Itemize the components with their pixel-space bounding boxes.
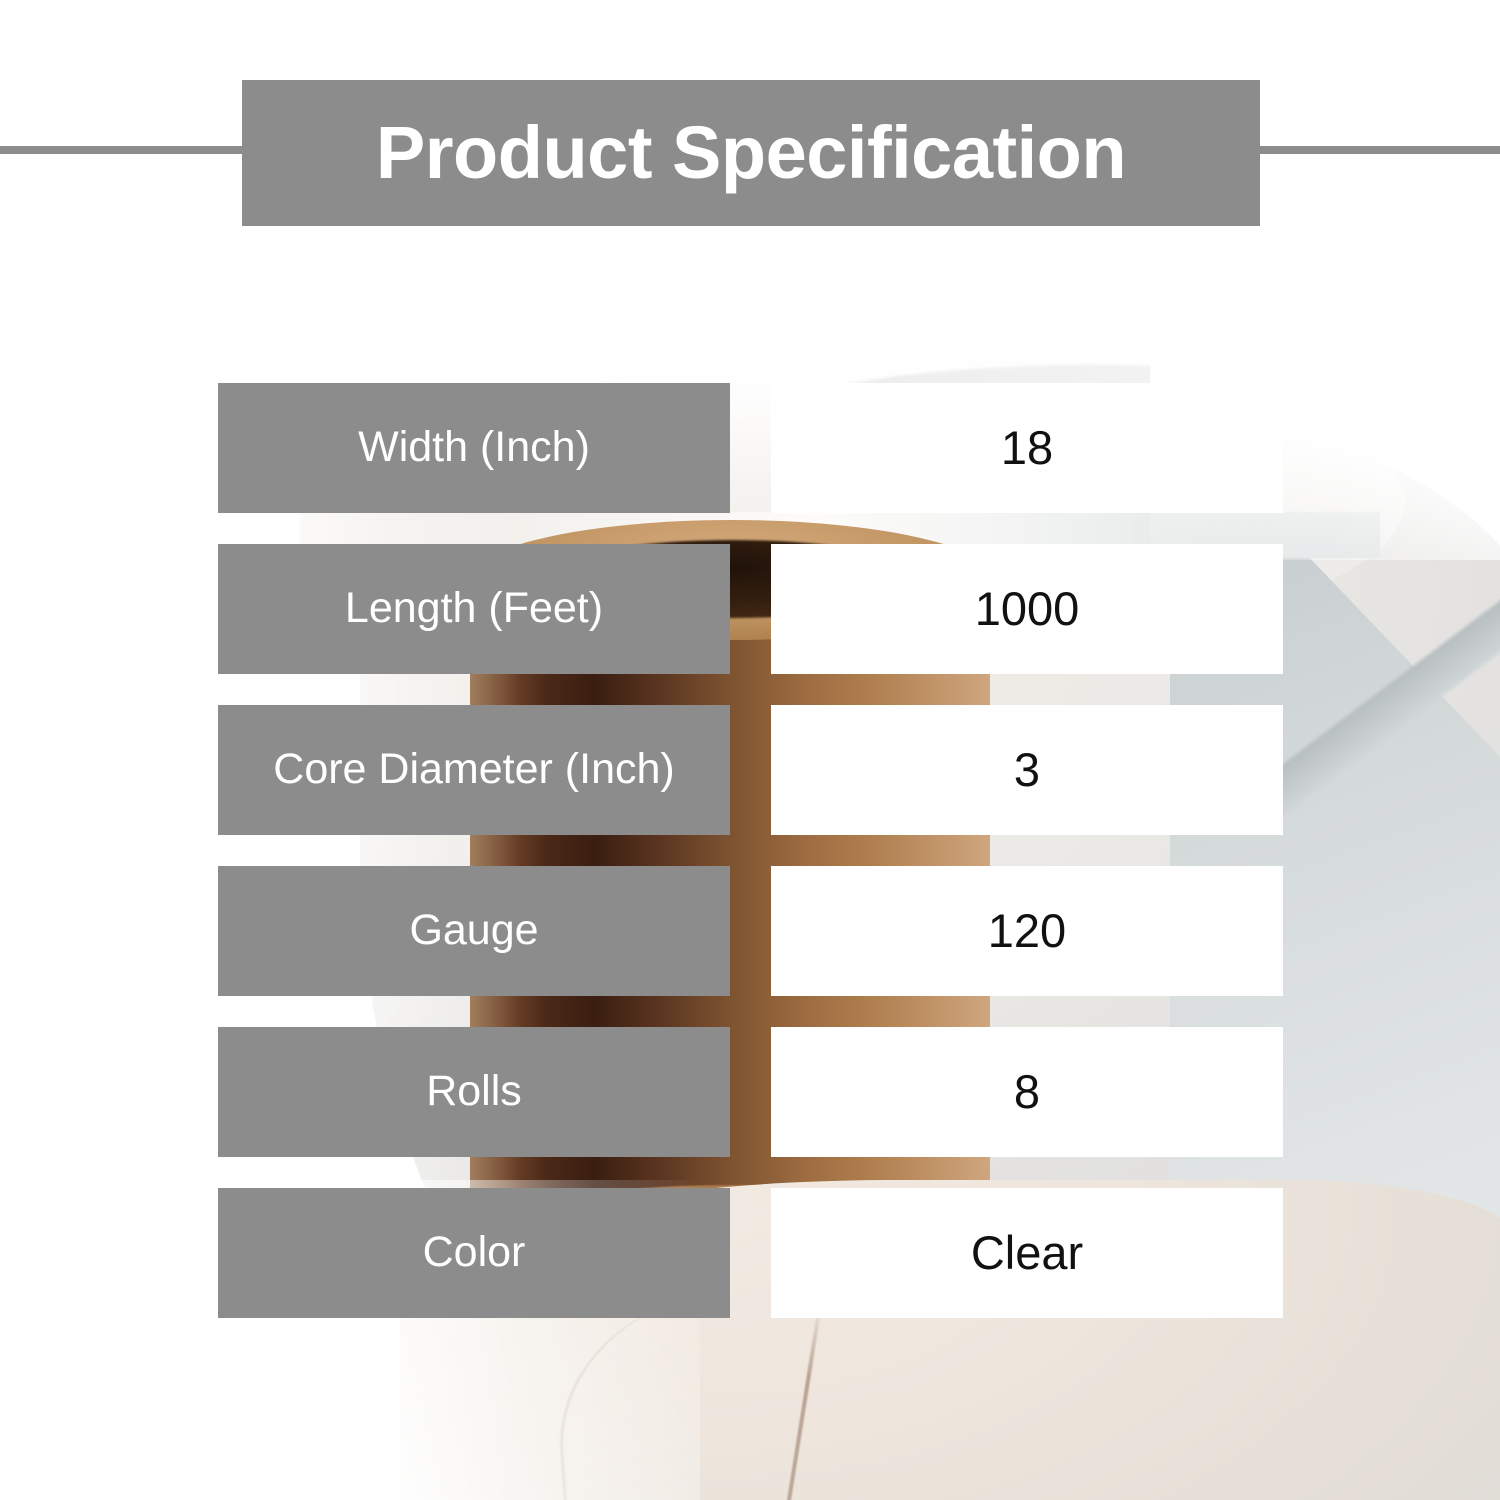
column-gap (730, 1027, 771, 1157)
specification-table: Width (Inch) 18 Length (Feet) 1000 Core … (218, 383, 1283, 1318)
table-row: Gauge 120 (218, 866, 1283, 996)
column-gap (730, 383, 771, 513)
table-row: Width (Inch) 18 (218, 383, 1283, 513)
spec-label-color: Color (218, 1188, 730, 1318)
spec-label-length: Length (Feet) (218, 544, 730, 674)
spec-label-gauge: Gauge (218, 866, 730, 996)
table-row: Core Diameter (Inch) 3 (218, 705, 1283, 835)
table-row: Color Clear (218, 1188, 1283, 1318)
spec-value-gauge: 120 (771, 866, 1283, 996)
spec-value-width: 18 (771, 383, 1283, 513)
spec-label-rolls: Rolls (218, 1027, 730, 1157)
spec-value-length: 1000 (771, 544, 1283, 674)
column-gap (730, 1188, 771, 1318)
column-gap (730, 544, 771, 674)
table-row: Length (Feet) 1000 (218, 544, 1283, 674)
spec-value-color: Clear (771, 1188, 1283, 1318)
column-gap (730, 705, 771, 835)
table-row: Rolls 8 (218, 1027, 1283, 1157)
column-gap (730, 866, 771, 996)
title-banner: Product Specification (242, 80, 1260, 226)
spec-value-core-diameter: 3 (771, 705, 1283, 835)
spec-label-width: Width (Inch) (218, 383, 730, 513)
page-title: Product Specification (376, 116, 1126, 190)
spec-value-rolls: 8 (771, 1027, 1283, 1157)
spec-label-core-diameter: Core Diameter (Inch) (218, 705, 730, 835)
